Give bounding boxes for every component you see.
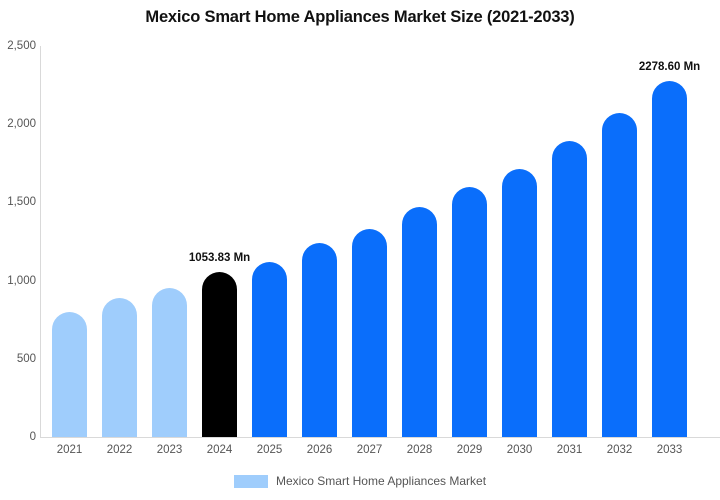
- y-tick-label: 1,000: [2, 275, 36, 287]
- chart-title: Mexico Smart Home Appliances Market Size…: [0, 8, 720, 27]
- bar-2030[interactable]: [502, 169, 537, 437]
- bar-2032[interactable]: [602, 113, 637, 437]
- bar-2023[interactable]: [152, 288, 187, 437]
- bar-value-label-2024: 1053.83 Mn: [189, 252, 250, 264]
- bar-2021[interactable]: [52, 312, 87, 437]
- plot-area: 1053.83 Mn2278.60 Mn: [40, 46, 720, 437]
- bar-2022[interactable]: [102, 298, 137, 437]
- x-tick-label-2024: 2024: [195, 444, 245, 456]
- bar-2027[interactable]: [352, 229, 387, 437]
- bar-chart: Mexico Smart Home Appliances Market Size…: [0, 0, 720, 500]
- y-tick-label: 0: [2, 431, 36, 443]
- x-tick-label-2025: 2025: [245, 444, 295, 456]
- legend-swatch-icon: [234, 475, 268, 488]
- x-tick-label-2023: 2023: [145, 444, 195, 456]
- x-tick-label-2030: 2030: [495, 444, 545, 456]
- y-tick-label: 2,000: [2, 118, 36, 130]
- x-tick-label-2028: 2028: [395, 444, 445, 456]
- bar-2024[interactable]: [202, 272, 237, 437]
- y-tick-label: 1,500: [2, 196, 36, 208]
- bar-2033[interactable]: [652, 81, 687, 437]
- x-tick-label-2033: 2033: [645, 444, 695, 456]
- x-axis-line: [40, 437, 720, 438]
- bar-2026[interactable]: [302, 243, 337, 437]
- x-axis: 2021202220232024202520262027202820292030…: [40, 444, 720, 464]
- chart-legend: Mexico Smart Home Appliances Market: [0, 474, 720, 488]
- bar-2029[interactable]: [452, 187, 487, 437]
- x-tick-label-2026: 2026: [295, 444, 345, 456]
- x-tick-label-2031: 2031: [545, 444, 595, 456]
- x-tick-label-2029: 2029: [445, 444, 495, 456]
- x-tick-label-2032: 2032: [595, 444, 645, 456]
- y-tick-label: 2,500: [2, 40, 36, 52]
- bar-value-label-2033: 2278.60 Mn: [639, 61, 700, 73]
- x-tick-label-2027: 2027: [345, 444, 395, 456]
- bar-2028[interactable]: [402, 207, 437, 437]
- bar-2031[interactable]: [552, 141, 587, 437]
- y-axis: 2,5002,0001,5001,0005000: [0, 0, 36, 500]
- x-tick-label-2022: 2022: [95, 444, 145, 456]
- x-tick-label-2021: 2021: [45, 444, 95, 456]
- y-tick-label: 500: [2, 353, 36, 365]
- bar-2025[interactable]: [252, 262, 287, 437]
- legend-label: Mexico Smart Home Appliances Market: [276, 474, 486, 488]
